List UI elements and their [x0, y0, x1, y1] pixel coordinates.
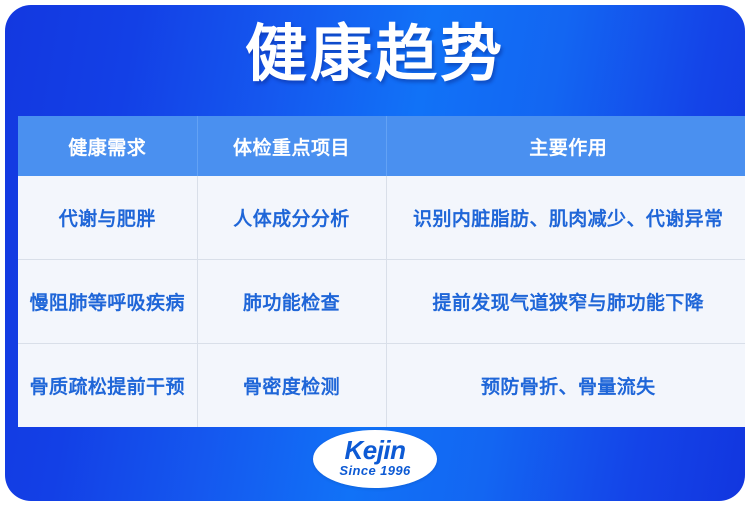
cell-need: 慢阻肺等呼吸疾病 [18, 260, 197, 344]
table-body: 代谢与肥胖 人体成分分析 识别内脏脂肪、肌肉减少、代谢异常 慢阻肺等呼吸疾病 肺… [18, 176, 745, 427]
table-header: 健康需求 体检重点项目 主要作用 [18, 116, 745, 176]
column-header-item: 体检重点项目 [197, 116, 386, 176]
table-row: 代谢与肥胖 人体成分分析 识别内脏脂肪、肌肉减少、代谢异常 [18, 176, 745, 260]
column-header-benefit: 主要作用 [386, 116, 745, 176]
cell-item: 人体成分分析 [197, 176, 386, 260]
cell-need: 代谢与肥胖 [18, 176, 197, 260]
health-trend-poster: 健康趋势 健康需求 体检重点项目 主要作用 代谢与肥胖 人体成分分 [0, 0, 750, 506]
title-band: 健康趋势 [5, 5, 745, 113]
cell-item: 肺功能检查 [197, 260, 386, 344]
table-row: 骨质疏松提前干预 骨密度检测 预防骨折、骨量流失 [18, 344, 745, 428]
health-table: 健康需求 体检重点项目 主要作用 代谢与肥胖 人体成分分析 识别内脏脂肪、肌肉减… [18, 116, 745, 427]
table-header-row: 健康需求 体检重点项目 主要作用 [18, 116, 745, 176]
cell-need: 骨质疏松提前干预 [18, 344, 197, 428]
health-table-container: 健康需求 体检重点项目 主要作用 代谢与肥胖 人体成分分析 识别内脏脂肪、肌肉减… [18, 116, 745, 418]
brand-tagline: Since 1996 [313, 463, 437, 479]
cell-benefit: 识别内脏脂肪、肌肉减少、代谢异常 [386, 176, 745, 260]
brand-logo: Kejin Since 1996 [313, 430, 437, 488]
table-row: 慢阻肺等呼吸疾病 肺功能检查 提前发现气道狭窄与肺功能下降 [18, 260, 745, 344]
cell-item: 骨密度检测 [197, 344, 386, 428]
footer-band: Kejin Since 1996 [5, 418, 745, 501]
cell-benefit: 预防骨折、骨量流失 [386, 344, 745, 428]
cell-benefit: 提前发现气道狭窄与肺功能下降 [386, 260, 745, 344]
poster-card: 健康趋势 健康需求 体检重点项目 主要作用 代谢与肥胖 人体成分分 [5, 5, 745, 501]
brand-name: Kejin [313, 436, 437, 464]
poster-title: 健康趋势 [5, 16, 745, 94]
column-header-need: 健康需求 [18, 116, 197, 176]
